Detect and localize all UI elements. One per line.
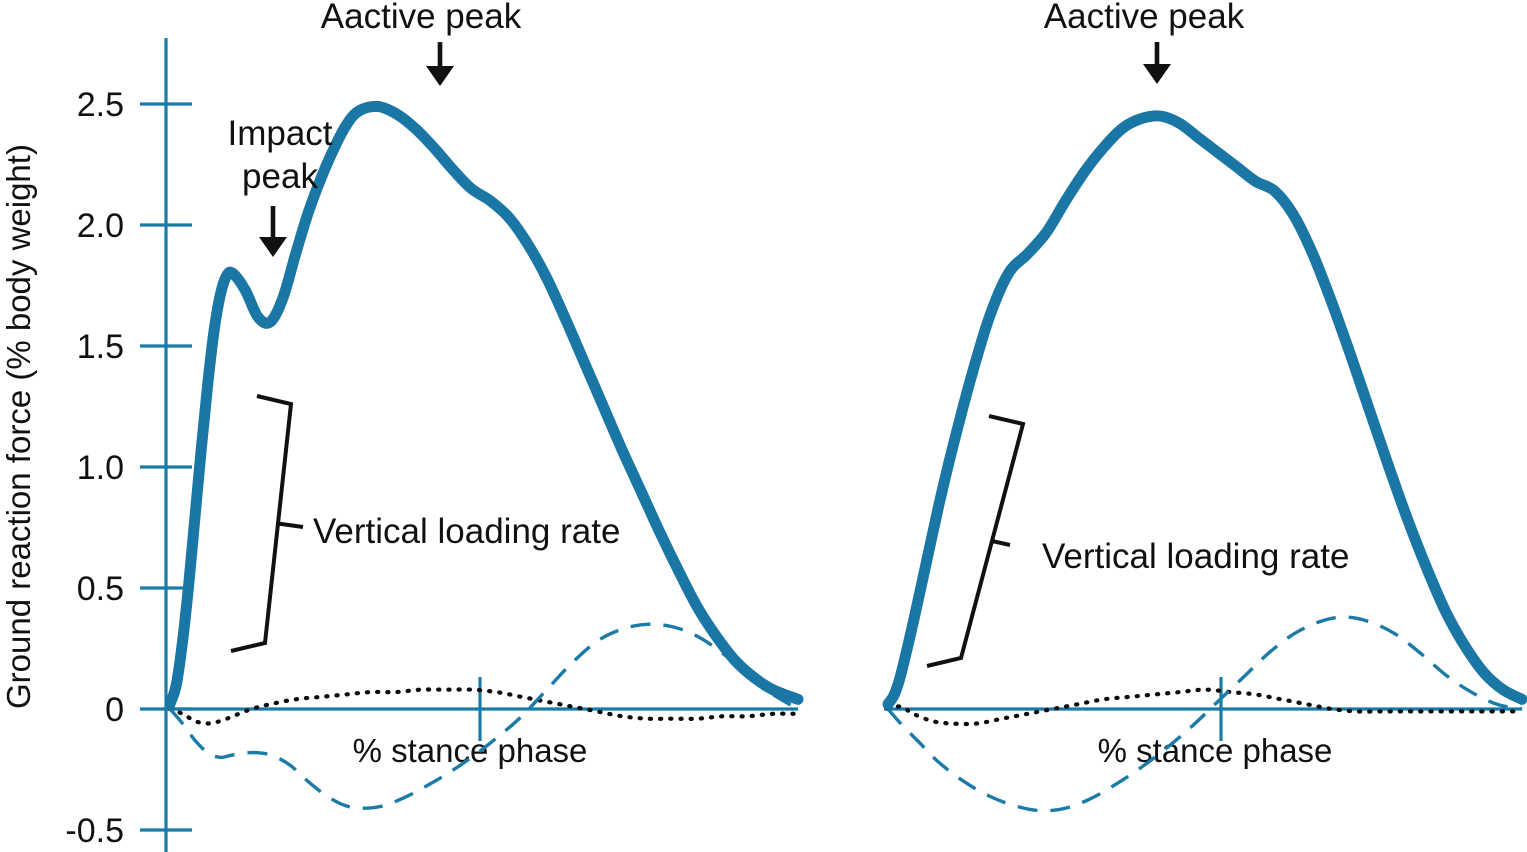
impact-peak-label-line2: peak — [242, 157, 318, 196]
series-solid-thick-right-panel — [888, 116, 1522, 704]
y-axis-title: Ground reaction force (% body weight) — [0, 144, 37, 709]
vertical-loading-rate-bracket-left — [231, 396, 303, 651]
series-dotted-right-panel — [888, 690, 1522, 724]
impact-peak-arrow-head — [259, 237, 287, 257]
series-solid-thick-left-panel — [170, 106, 798, 704]
y-axis-tick-label-6: -0.5 — [65, 812, 124, 850]
active-peak-arrow-left-head — [426, 66, 454, 86]
vertical-loading-rate-label-right: Vertical loading rate — [1042, 537, 1349, 576]
vertical-loading-rate-bracket-right — [927, 416, 1023, 666]
vertical-loading-rate-label-left: Vertical loading rate — [313, 512, 620, 551]
y-axis-tick-label-3: 1.0 — [77, 449, 124, 487]
y-axis-tick-label-2: 1.5 — [77, 328, 124, 366]
active-peak-label-left: Aactive peak — [321, 0, 522, 36]
series-dashed-right-panel — [888, 617, 1522, 811]
active-peak-arrow-right-head — [1143, 64, 1171, 84]
figure-canvas: 2.52.01.51.00.50-0.5Ground reaction forc… — [0, 0, 1527, 852]
ground-reaction-force-figure: 2.52.01.51.00.50-0.5Ground reaction forc… — [0, 0, 1527, 852]
impact-peak-label-line1: Impact — [227, 114, 332, 153]
series-dashed-left-panel — [170, 624, 798, 808]
y-axis-tick-label-1: 2.0 — [77, 207, 124, 245]
y-axis-tick-label-4: 0.5 — [77, 570, 124, 608]
y-axis-tick-label-5: 0 — [105, 691, 124, 729]
series-dotted-left-panel — [170, 689, 798, 723]
y-axis-tick-label-0: 2.5 — [77, 86, 124, 124]
active-peak-label-right: Aactive peak — [1044, 0, 1245, 36]
x-axis-title-left-panel: % stance phase — [353, 732, 588, 769]
x-axis-title-right-panel: % stance phase — [1098, 732, 1333, 769]
